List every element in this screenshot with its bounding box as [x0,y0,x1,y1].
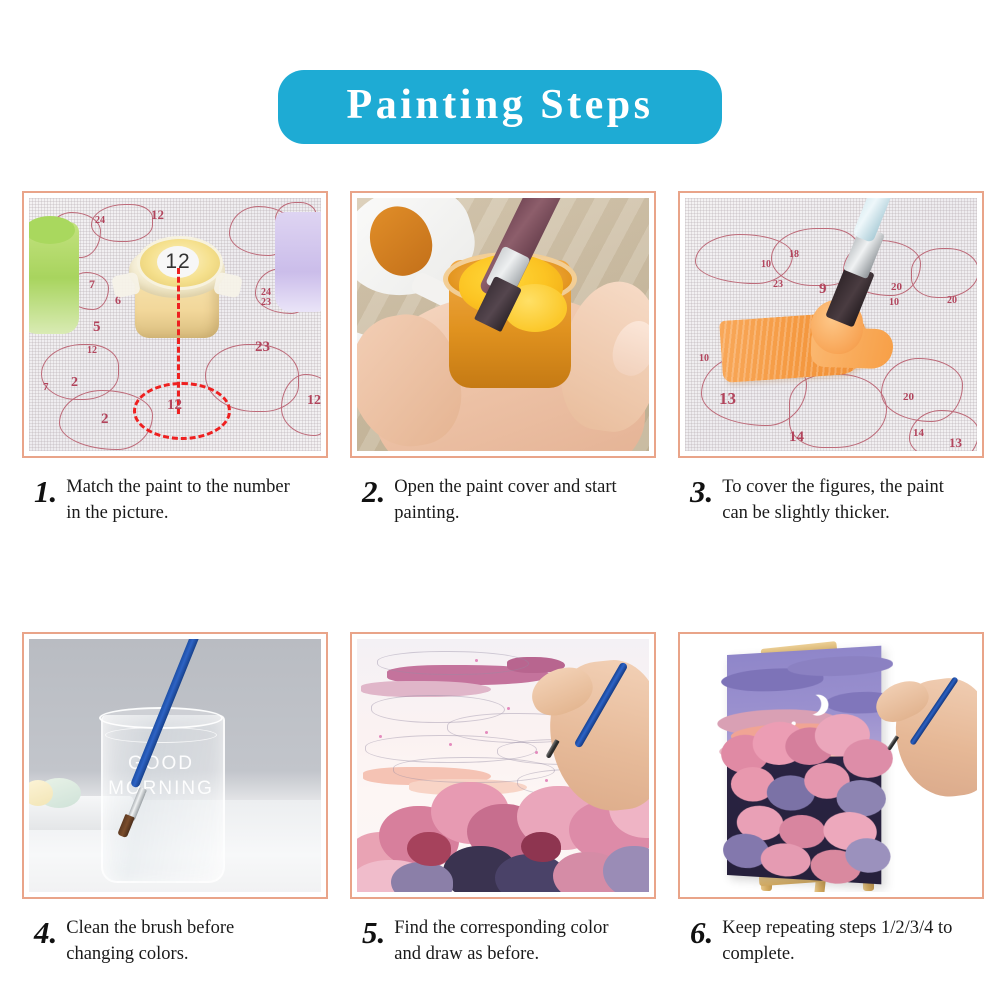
lid-paint-residue [360,198,442,284]
step-card-3: 10 18 23 9 20 10 20 13 14 20 10 13 14 20 [678,191,984,527]
canvas-number: 7 [43,382,49,393]
step-4-photo-frame: GOOD MORNING [22,632,328,899]
step-4-number: 4. [34,915,57,948]
paint-guide-dot [449,743,452,746]
purple-paint-jar [275,212,321,312]
blossom-petal [407,832,451,866]
paint-guide-dot [379,735,382,738]
canvas-number: 12 [87,346,97,356]
canvas-number: 23 [255,340,270,355]
canvas-number: 18 [789,250,799,260]
glass-text-line-2: MORNING [107,776,215,802]
fingernail [606,315,649,381]
step-6-number: 6. [690,915,713,948]
paint-pot-number-match-photo: 12 24 2 7 6 5 12 2 7 2 23 24 23 12 [29,198,321,451]
unpainted-outline [377,651,529,675]
canvas-number: 14 [913,428,924,439]
paint-guide-dot [485,731,488,734]
canvas-shape [911,248,977,298]
canvas-number: 24 [95,216,105,226]
canvas-number: 13 [949,436,962,449]
step-1-number: 1. [34,474,57,507]
canvas-number: 20 [891,282,902,293]
open-paint-pot-photo [357,198,649,451]
sky-cloud [787,653,892,678]
canvas-number: 9 [819,282,827,297]
blossom-mass [727,756,881,884]
blossom-cluster [836,779,885,816]
step-card-4: GOOD MORNING 4. Clean the brush before c… [22,632,328,968]
thick-paint-brush-stroke-photo: 10 18 23 9 20 10 20 13 14 20 10 13 14 20 [685,198,977,451]
step-6-caption: 6. Keep repeating steps 1/2/3/4 to compl… [678,915,984,968]
step-3-number: 3. [690,474,713,507]
page-header: Painting Steps [0,70,1000,144]
red-dashed-highlight-ellipse [133,382,231,440]
step-card-6: 6. Keep repeating steps 1/2/3/4 to compl… [678,632,984,968]
glass-text-line-1: GOOD [107,751,215,777]
canvas-number: 13 [719,390,736,407]
step-2-photo-frame [350,191,656,458]
canvas-number: 10 [761,260,771,270]
canvas-number: 23 [773,280,783,290]
title-pill: Painting Steps [278,70,722,144]
step-card-2: 2. Open the paint cover and start painti… [350,191,656,527]
canvas-number: 12 [307,394,321,408]
step-4-text: Clean the brush before changing colors. [66,915,306,968]
steps-row-1: 12 24 2 7 6 5 12 2 7 2 23 24 23 12 [22,191,984,527]
blossom-petal [521,832,561,862]
steps-grid: 12 24 2 7 6 5 12 2 7 2 23 24 23 12 [22,191,984,967]
step-1-text: Match the paint to the number in the pic… [66,474,306,527]
step-2-text: Open the paint cover and start painting. [394,474,634,527]
step-card-1: 12 24 2 7 6 5 12 2 7 2 23 24 23 12 [22,191,328,527]
canvas-number: 10 [889,298,899,308]
paint-guide-dot [507,707,510,710]
step-4-caption: 4. Clean the brush before changing color… [22,915,328,968]
page-title: Painting Steps [324,83,676,127]
finished-canvas [727,645,881,884]
canvas-number: 10 [699,354,709,364]
step-6-photo-frame [678,632,984,899]
step-3-caption: 3. To cover the figures, the paint can b… [678,474,984,527]
blossom-cluster [843,738,893,777]
green-paint-jar [29,222,79,334]
step-2-caption: 2. Open the paint cover and start painti… [350,474,656,527]
step-1-photo-frame: 12 24 2 7 6 5 12 2 7 2 23 24 23 12 [22,191,328,458]
step-2-number: 2. [362,474,385,507]
canvas-number: 12 [151,208,164,221]
step-1-caption: 1. Match the paint to the number in the … [22,474,328,527]
canvas-number: 5 [93,320,101,335]
step-card-5: 5. Find the corresponding color and draw… [350,632,656,968]
finished-painting-on-easel-photo [685,639,977,892]
canvas-number: 7 [89,278,95,290]
step-5-number: 5. [362,915,385,948]
step-5-caption: 5. Find the corresponding color and draw… [350,915,656,968]
canvas-number: 23 [261,298,271,308]
rinse-brush-in-water-glass-photo: GOOD MORNING [29,639,321,892]
canvas-number: 20 [903,392,914,403]
step-3-text: To cover the figures, the paint can be s… [722,474,962,527]
step-3-photo-frame: 10 18 23 9 20 10 20 13 14 20 10 13 14 20 [678,191,984,458]
partially-painted-canvas-photo [357,639,649,892]
paint-guide-dot [475,659,478,662]
paint-guide-dot [535,751,538,754]
canvas-number: 14 [789,430,804,445]
step-5-text: Find the corresponding color and draw as… [394,915,634,968]
steps-row-2: GOOD MORNING 4. Clean the brush before c… [22,632,984,968]
step-5-photo-frame [350,632,656,899]
canvas-number: 20 [947,296,957,306]
highlighted-canvas-number: 12 [167,398,182,413]
canvas-number: 2 [71,376,78,390]
glass-printed-text: GOOD MORNING [107,751,215,802]
canvas-number: 2 [101,412,109,427]
step-6-text: Keep repeating steps 1/2/3/4 to complete… [722,915,962,968]
